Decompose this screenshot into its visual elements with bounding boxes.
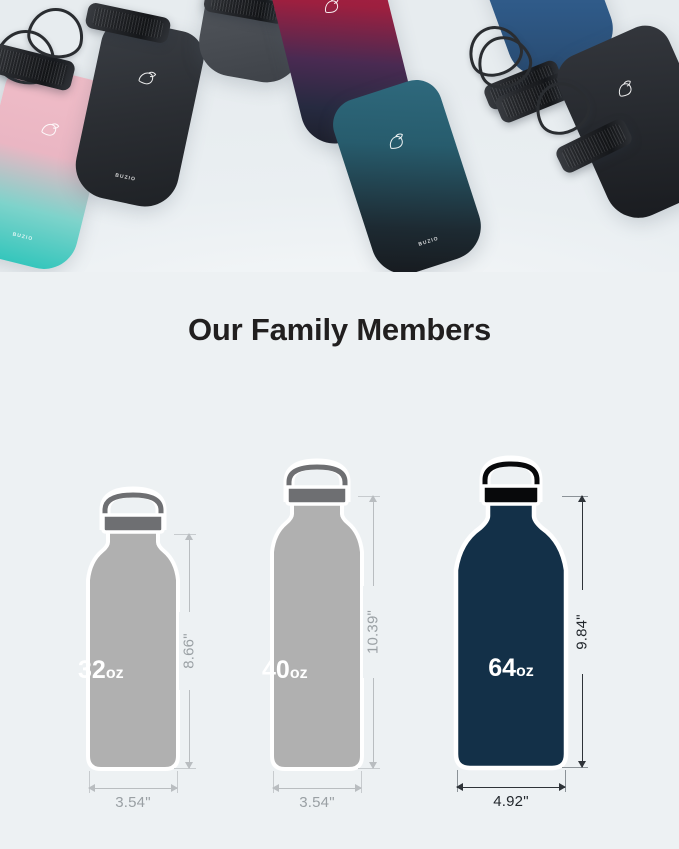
arrow-down — [369, 762, 377, 769]
capacity-value: 32 — [78, 656, 106, 684]
width-label-40oz: 3.54" — [299, 794, 335, 811]
arrow-right — [171, 784, 178, 792]
photo-bottle-brand: BUZIO — [12, 232, 34, 243]
height-label-40oz: 10.39" — [365, 610, 382, 654]
buzio-shell-logo-icon — [609, 75, 642, 106]
buzio-shell-logo-icon — [34, 116, 65, 144]
buzio-shell-logo-icon — [131, 65, 161, 92]
capacity-unit: oz — [106, 665, 124, 682]
height-dimension-32oz: 8.66" — [182, 534, 196, 768]
dimension-line — [273, 788, 361, 789]
arrow-down — [578, 761, 586, 768]
bottle-shape-32oz — [78, 488, 188, 780]
product-photo-banner: BUZIO BUZIO BUZIO — [0, 0, 679, 272]
bottle-shape-40oz — [262, 460, 372, 780]
bottle-shape-64oz — [444, 458, 578, 780]
capacity-unit: oz — [290, 665, 308, 682]
height-label-wrap: 8.66" — [179, 612, 199, 690]
arrow-up — [578, 495, 586, 502]
capacity-label-64oz: 64oz — [444, 654, 578, 683]
capacity-unit: oz — [516, 663, 534, 680]
photo-bottle-brand: BUZIO — [114, 173, 136, 183]
photo-bottle-brand: BUZIO — [418, 236, 440, 248]
arrow-up — [369, 495, 377, 502]
dimension-line — [457, 787, 565, 788]
buzio-shell-logo-icon — [316, 0, 347, 21]
width-label-32oz: 3.54" — [115, 794, 151, 811]
arrow-up — [185, 533, 193, 540]
arrow-right — [355, 784, 362, 792]
arrow-right — [559, 783, 566, 791]
width-dimension-32oz: 3.54" — [89, 788, 177, 789]
page-root: BUZIO BUZIO BUZIO — [0, 0, 679, 849]
dimension-line — [89, 788, 177, 789]
arrow-down — [185, 762, 193, 769]
height-label-32oz: 8.66" — [181, 633, 198, 669]
bottle-illustration-64oz — [444, 458, 578, 780]
capacity-value: 40 — [262, 656, 290, 684]
buzio-shell-logo-icon — [381, 129, 413, 158]
width-dimension-40oz: 3.54" — [273, 788, 361, 789]
width-dimension-64oz: 4.92" — [457, 787, 565, 788]
arrow-left — [88, 784, 95, 792]
height-label-64oz: 9.84" — [574, 614, 591, 650]
size-comparison-diagram: 32oz 8.66" 3.54" — [0, 440, 679, 849]
height-label-wrap: 9.84" — [572, 590, 592, 674]
bottle-illustration-40oz — [262, 460, 372, 780]
height-dimension-64oz: 9.84" — [575, 496, 589, 767]
capacity-value: 64 — [488, 654, 516, 682]
height-dimension-40oz: 10.39" — [366, 496, 380, 768]
bottle-illustration-32oz — [78, 488, 188, 780]
arrow-left — [456, 783, 463, 791]
page-title: Our Family Members — [0, 312, 679, 348]
width-label-64oz: 4.92" — [493, 793, 529, 810]
height-label-wrap: 10.39" — [363, 586, 383, 678]
arrow-left — [272, 784, 279, 792]
